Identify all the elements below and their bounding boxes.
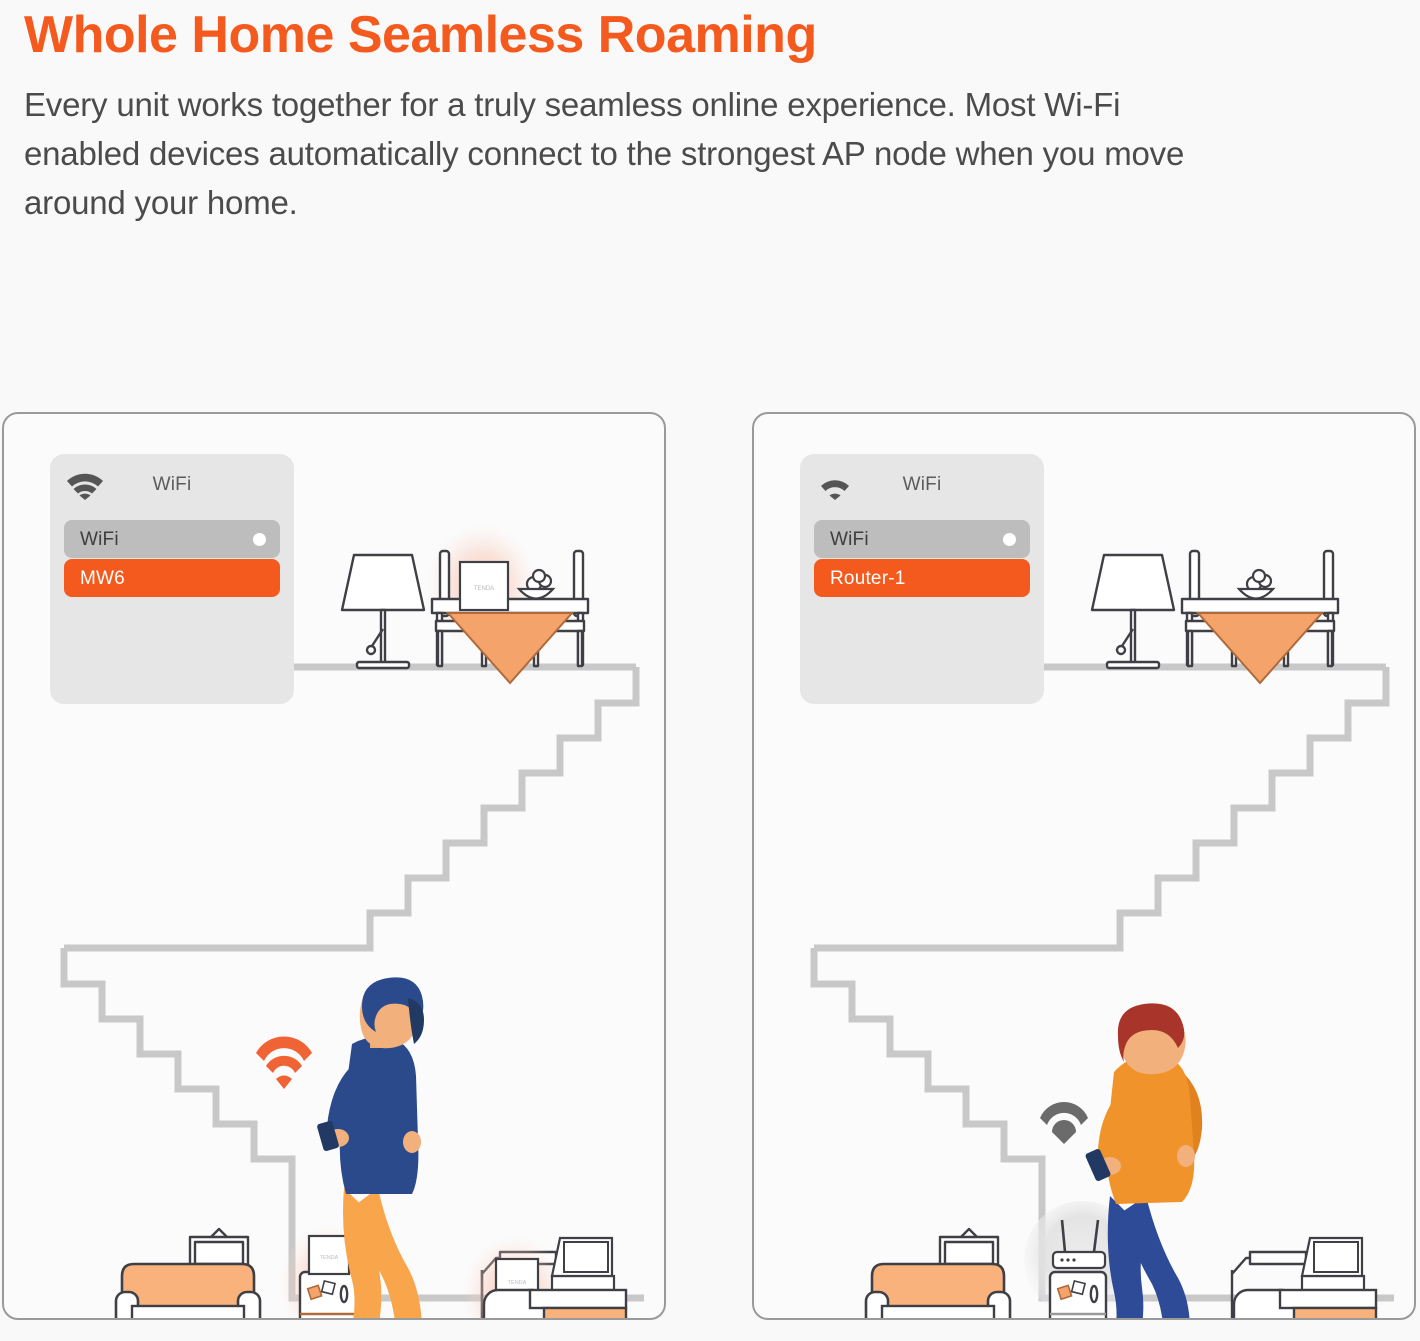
floor-lamp-left <box>342 555 424 668</box>
floor-lamp-right <box>1092 555 1174 668</box>
svg-text:TENDA: TENDA <box>474 586 494 592</box>
wifi-settings-panel-right[interactable]: WiFi WiFi Router-1 <box>800 454 1044 704</box>
sofa-right <box>866 1264 1010 1320</box>
wifi-toggle-row-left[interactable]: WiFi <box>64 520 280 558</box>
desk-unit-right <box>1280 1238 1376 1320</box>
header: Whole Home Seamless Roaming Every unit w… <box>24 0 1274 227</box>
page-root: Whole Home Seamless Roaming Every unit w… <box>0 0 1420 1341</box>
wifi-network-item-mw6[interactable]: MW6 <box>64 559 280 597</box>
tablecloth-left <box>448 613 572 683</box>
drawer-top-left <box>544 1308 626 1320</box>
refrigerator-left <box>300 1272 356 1320</box>
wifi-toggle-label-left: WiFi <box>80 529 119 551</box>
wifi-signal-2bars-gray-icon <box>1040 1102 1088 1144</box>
panel-card-right: WiFi WiFi Router-1 <box>752 412 1416 1320</box>
wifi-signal-3bars-orange-icon <box>256 1036 312 1089</box>
sofa-left <box>116 1264 260 1320</box>
tablecloth-right <box>1198 613 1322 683</box>
wifi-panel-header-right: WiFi <box>800 454 1044 516</box>
wifi-panel-title-right: WiFi <box>800 474 1044 496</box>
wifi-toggle-indicator-left[interactable] <box>253 533 266 546</box>
svg-text:TENDA: TENDA <box>320 1255 339 1261</box>
wifi-panel-header-left: WiFi <box>50 454 294 516</box>
wifi-toggle-indicator-right[interactable] <box>1003 533 1016 546</box>
wifi-network-label-left: MW6 <box>80 568 125 590</box>
wifi-network-item-router-1[interactable]: Router-1 <box>814 559 1030 597</box>
wifi-toggle-row-right[interactable]: WiFi <box>814 520 1030 558</box>
wifi-toggle-label-right: WiFi <box>830 529 869 551</box>
svg-text:TENDA: TENDA <box>508 1280 527 1286</box>
drawer-top-right <box>1294 1308 1376 1320</box>
wifi-panel-title-left: WiFi <box>50 474 294 496</box>
page-subtitle: Every unit works together for a truly se… <box>24 68 1224 227</box>
floor-and-stairs-right <box>814 667 1394 1298</box>
page-title: Whole Home Seamless Roaming <box>24 0 1274 68</box>
ap-node-table-left: TENDA <box>460 562 508 610</box>
wifi-network-label-right: Router-1 <box>830 568 906 590</box>
panel-card-left: TENDA <box>2 412 666 1320</box>
wifi-settings-panel-left[interactable]: WiFi WiFi MW6 <box>50 454 294 704</box>
ap-node-fridge-left: TENDA <box>309 1236 349 1274</box>
fruit-bowl-right <box>1239 570 1273 599</box>
refrigerator-right <box>1050 1272 1106 1320</box>
